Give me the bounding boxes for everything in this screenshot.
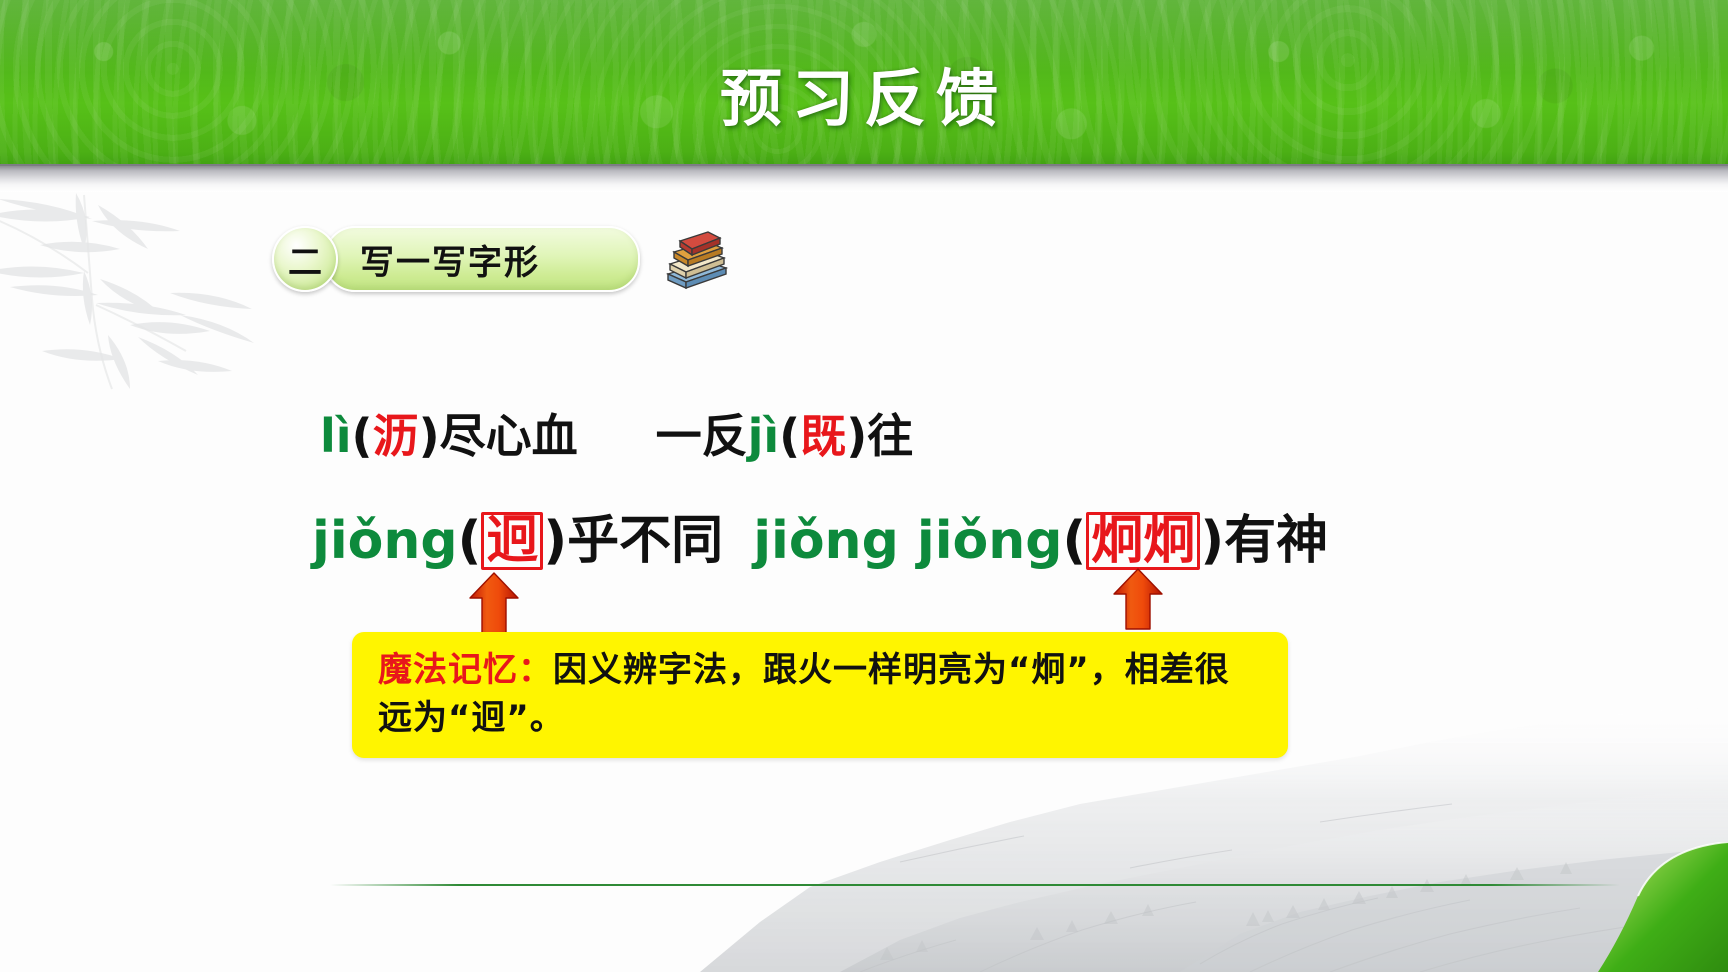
- section-heading: 二 写一写字形: [272, 228, 730, 290]
- pinyin-ji: jì: [748, 409, 780, 463]
- footer-divider: [330, 884, 1620, 886]
- stack-of-books-icon: [658, 228, 730, 290]
- bamboo-watermark-icon: [0, 175, 310, 405]
- pre-yifan: 一反: [656, 409, 748, 463]
- paren-open-4: (: [1063, 511, 1087, 571]
- paren-open-1: (: [352, 409, 373, 463]
- page-title: 预习反馈: [0, 48, 1728, 138]
- pinyin-jiong-1: jiǒng: [312, 511, 458, 571]
- section-number-badge: 二: [272, 226, 338, 292]
- mountain-landscape-watermark: [0, 672, 1728, 972]
- word-line-1: lì(沥)尽心血一反jì(既)往: [320, 400, 913, 466]
- up-arrow-icon: [468, 572, 520, 634]
- slide-header-banner: 预习反馈: [0, 0, 1728, 172]
- rest-hubutong: 乎不同: [567, 511, 723, 571]
- pinyin-li: lì: [320, 409, 352, 463]
- rest-wang: 往: [867, 409, 913, 463]
- char-jiong-jiong: 迥: [481, 512, 543, 570]
- rest-jinxinxue: 尽心血: [440, 409, 578, 463]
- rest-youshen: 有神: [1224, 511, 1328, 571]
- char-li: 沥: [373, 409, 419, 463]
- paren-close-4: ): [1200, 511, 1224, 571]
- up-arrow-icon: [1112, 568, 1164, 630]
- paren-open-2: (: [779, 409, 800, 463]
- page-curl-corner: [1598, 842, 1728, 972]
- paren-open-3: (: [458, 511, 482, 571]
- paren-close-1: ): [419, 409, 440, 463]
- pinyin-jiong-2: jiǒng jiǒng: [753, 511, 1062, 571]
- word-line-2: jiǒng(迥)乎不同jiǒng jiǒng(炯炯)有神: [312, 498, 1328, 573]
- paren-close-2: ): [846, 409, 867, 463]
- char-jiongjiong-fire: 炯炯: [1086, 512, 1200, 570]
- char-ji: 既: [800, 409, 846, 463]
- slide-canvas: 预习反馈: [0, 0, 1728, 972]
- paren-close-3: ): [543, 511, 567, 571]
- section-title-pill: 写一写字形: [324, 226, 640, 292]
